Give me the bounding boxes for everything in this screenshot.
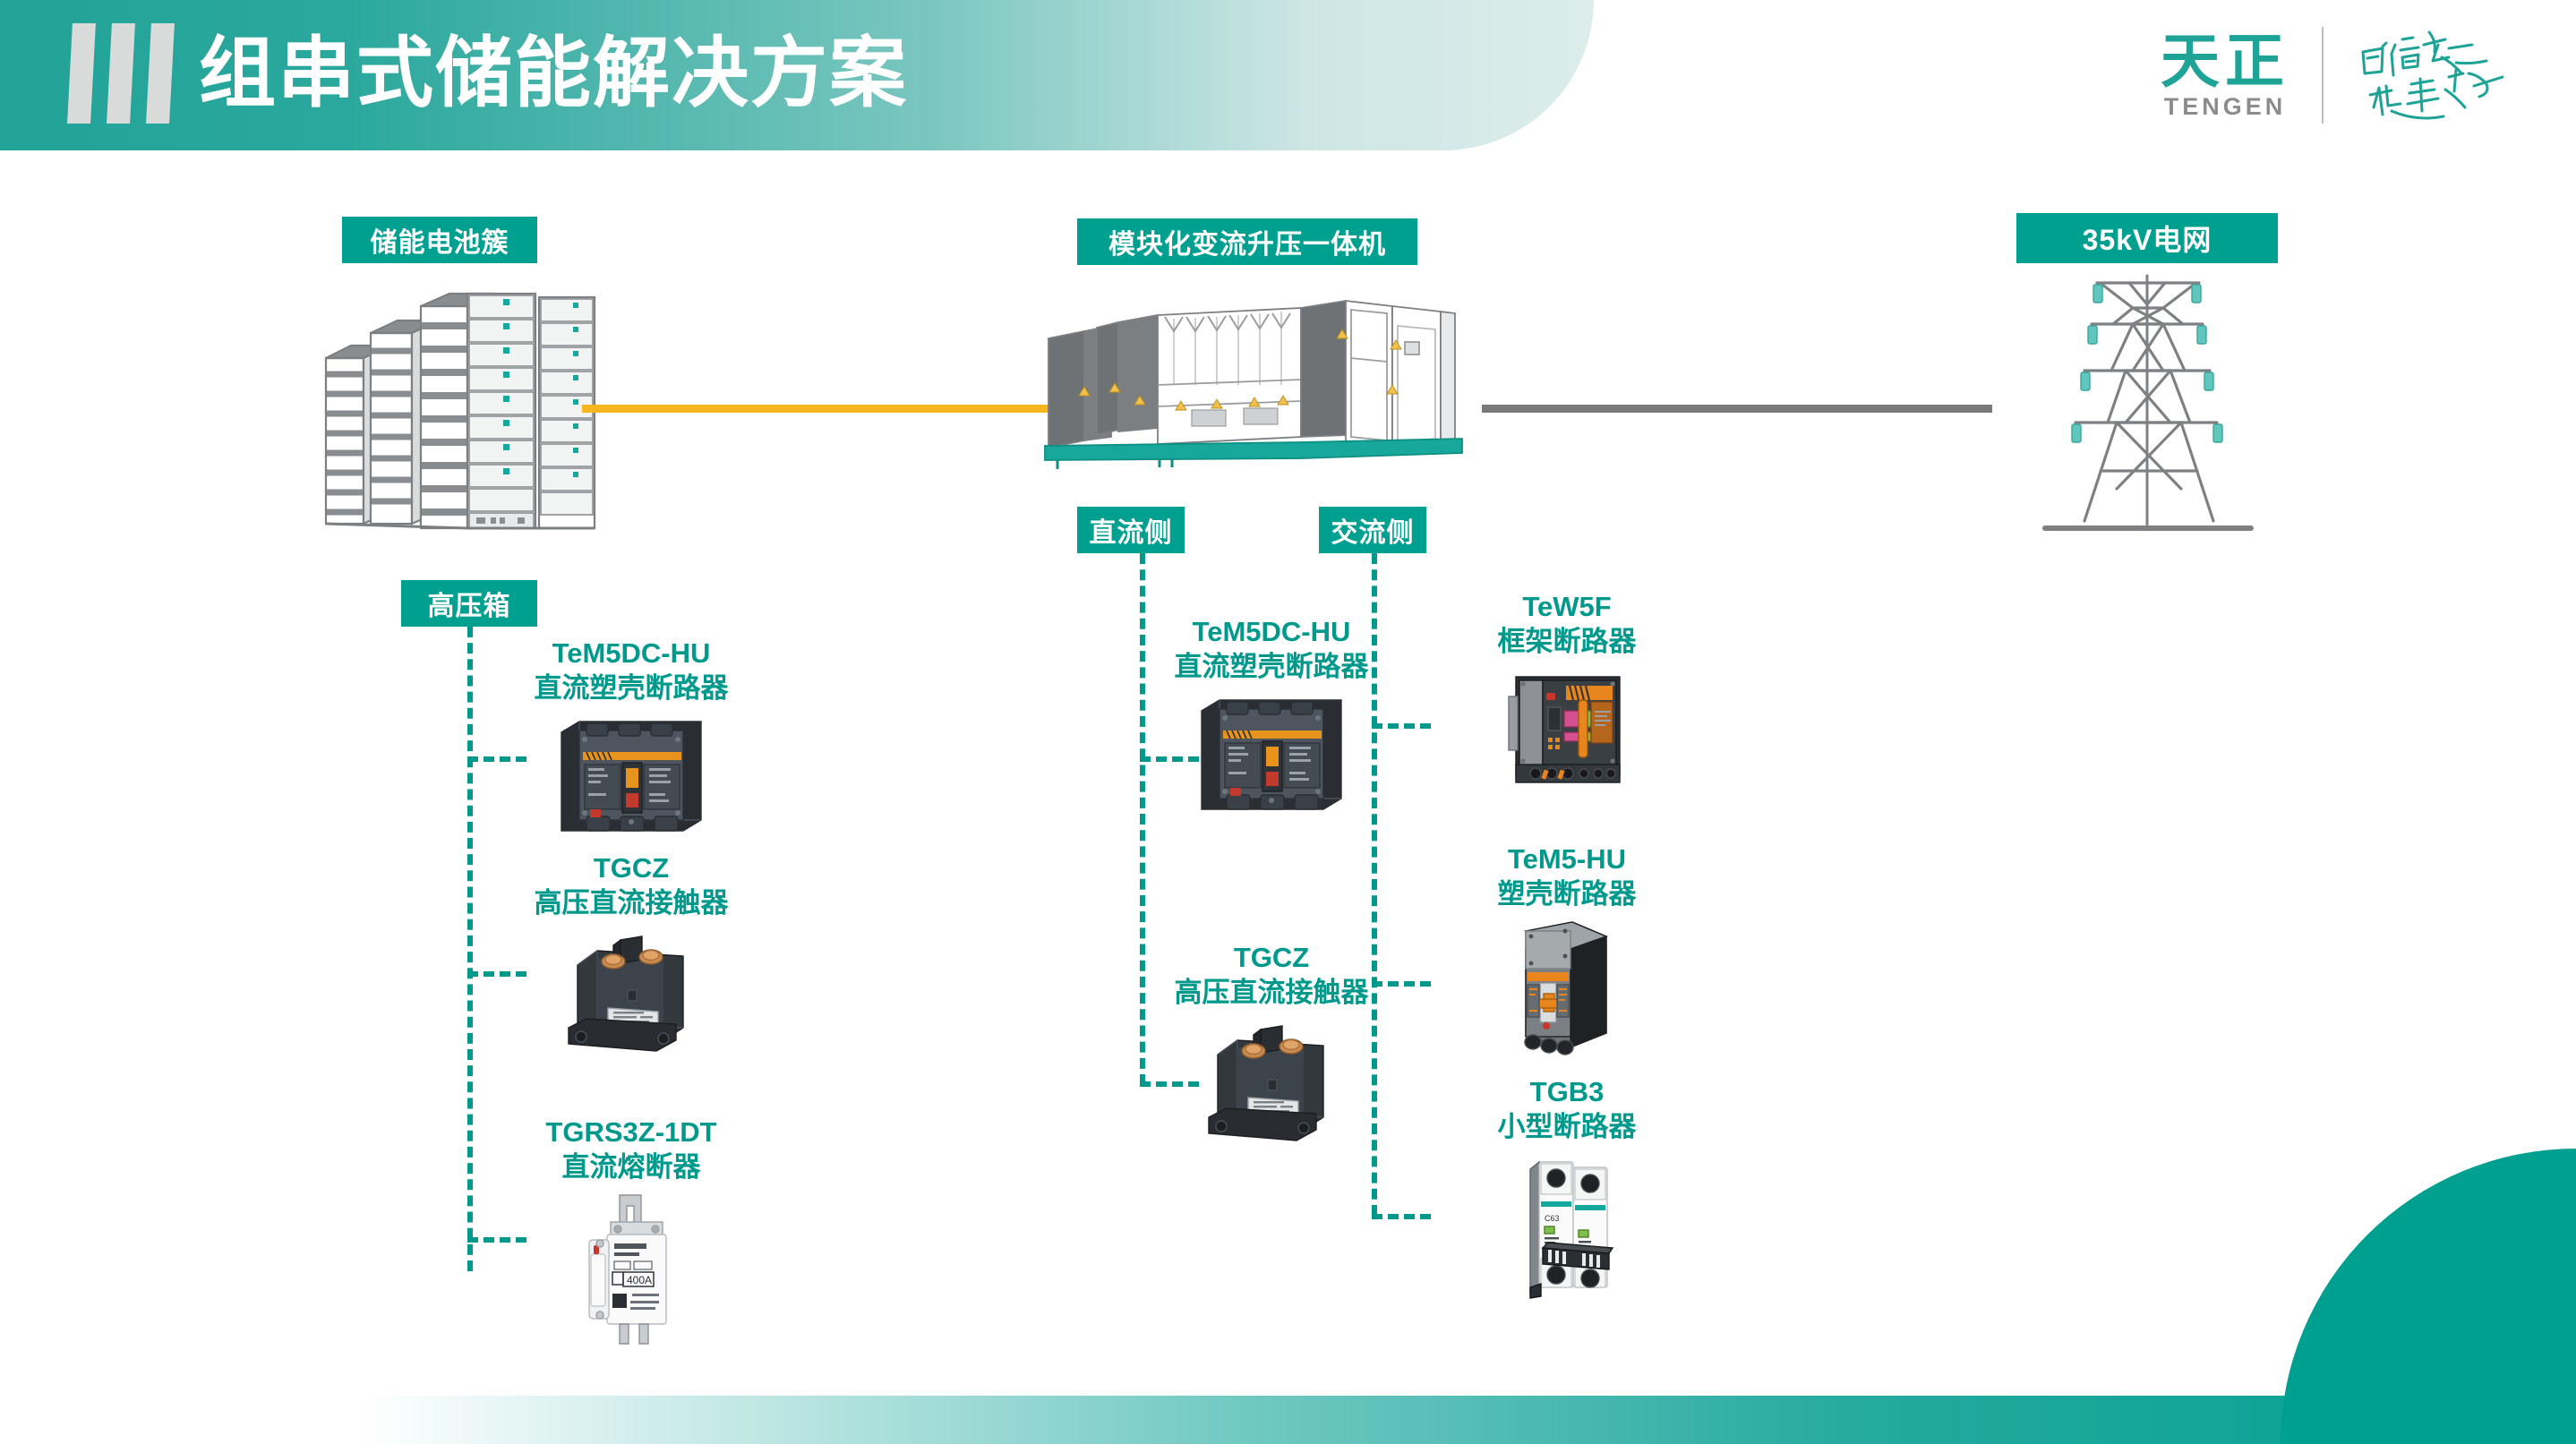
product-card: TGCZ 高压直流接触器 xyxy=(1142,940,1401,1148)
label-grid: 35kV电网 xyxy=(2016,213,2278,263)
label-hv-box: 高压箱 xyxy=(401,580,537,627)
product-card: TGRS3Z-1DT 直流熔断器 400A xyxy=(510,1115,752,1347)
transmission-tower-icon xyxy=(2024,269,2271,551)
brand-logo: 天正 TENGEN xyxy=(2161,13,2524,138)
label-dc-side: 直流侧 xyxy=(1077,507,1185,553)
container-pcs-icon xyxy=(1041,295,1480,501)
product-name: 直流塑壳断路器 xyxy=(510,671,752,705)
footer-corner-decoration xyxy=(2281,1149,2576,1444)
product-card: TeW5F 框架断路器 xyxy=(1397,589,1737,791)
mccb-dc-icon xyxy=(510,705,752,843)
battery-rack-icon xyxy=(315,269,602,564)
mccb-dc-icon xyxy=(1142,684,1401,822)
mccb-ac-icon xyxy=(1397,911,1737,1064)
logo-divider xyxy=(2322,27,2324,124)
product-card: TGCZ 高压直流接触器 xyxy=(510,850,752,1058)
product-code: TeM5DC-HU xyxy=(1142,614,1401,649)
logo-name-cn: 天正 xyxy=(2161,30,2289,92)
logo-name-en: TENGEN xyxy=(2164,92,2287,121)
dc-contactor-icon xyxy=(510,920,752,1058)
product-code: TGRS3Z-1DT xyxy=(510,1115,752,1149)
dc-fuse-icon: 400A xyxy=(510,1184,752,1347)
acb-icon xyxy=(1397,659,1737,791)
ac-bus-line xyxy=(1482,405,1992,413)
product-name: 高压直流接触器 xyxy=(510,885,752,920)
three-bars-icon xyxy=(70,23,172,124)
connector-trunk-ac-side xyxy=(1372,553,1377,1216)
product-name: 框架断路器 xyxy=(1397,624,1737,659)
connector-trunk-hv-box xyxy=(467,627,473,1271)
product-name: 直流塑壳断路器 xyxy=(1142,649,1401,684)
product-name: 塑壳断路器 xyxy=(1397,876,1737,911)
label-pcs-unit: 模块化变流升压一体机 xyxy=(1077,218,1417,265)
product-code: TeM5-HU xyxy=(1397,842,1737,876)
product-code: TGB3 xyxy=(1397,1074,1737,1109)
logo-mark: 天正 TENGEN xyxy=(2161,30,2289,121)
product-name: 直流熔断器 xyxy=(510,1149,752,1184)
footer-band xyxy=(0,1396,2576,1444)
mcb-icon: C63 xyxy=(1397,1144,1737,1305)
svg-text:400A: 400A xyxy=(627,1274,652,1286)
product-name: 高压直流接触器 xyxy=(1142,975,1401,1010)
product-code: TeM5DC-HU xyxy=(510,636,752,671)
page-title: 组串式储能解决方案 xyxy=(199,20,908,127)
product-card: TeM5-HU 塑壳断路器 xyxy=(1397,842,1737,1064)
handwritten-slogan-icon xyxy=(2356,21,2524,129)
product-card: TGB3 小型断路器 C63 xyxy=(1397,1074,1737,1305)
label-ac-side: 交流侧 xyxy=(1319,507,1426,553)
page-header: 组串式储能解决方案 xyxy=(0,0,1594,150)
product-code: TGCZ xyxy=(1142,940,1401,975)
product-card: TeM5DC-HU 直流塑壳断路器 xyxy=(510,636,752,843)
product-card: TeM5DC-HU 直流塑壳断路器 xyxy=(1142,614,1401,822)
product-code: TeW5F xyxy=(1397,589,1737,624)
svg-text:C63: C63 xyxy=(1545,1214,1560,1223)
dc-contactor-icon xyxy=(1142,1010,1401,1148)
dc-bus-line xyxy=(582,405,1057,413)
product-name: 小型断路器 xyxy=(1397,1109,1737,1144)
label-battery-cluster: 储能电池簇 xyxy=(342,217,537,263)
product-code: TGCZ xyxy=(510,850,752,885)
